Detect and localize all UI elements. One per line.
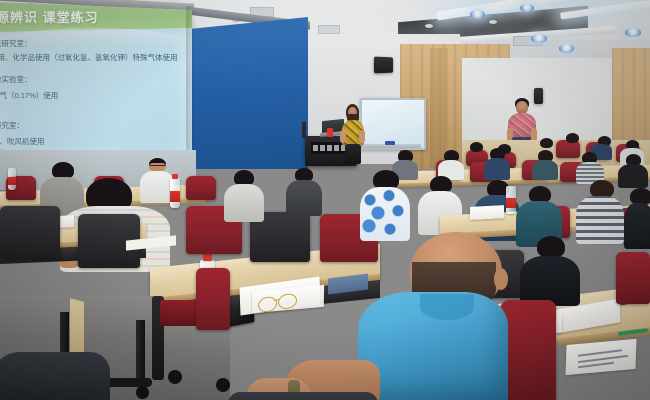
foreground-man-collar [420,294,474,320]
chair-back [196,268,230,330]
foreground-man [262,232,502,400]
presenter-arm-left [340,130,346,143]
ceiling-downlight [470,10,485,19]
audience-body-striped [576,196,624,244]
ceiling-vent [318,25,340,34]
bottle-cap [172,174,178,179]
audience-body [532,160,558,180]
audience-right-2 [576,180,624,242]
bottle-label [8,177,16,185]
microphone-stand [302,122,306,138]
audience-head [540,138,553,148]
audience-head [470,142,483,152]
classroom-photo-scene: 源辨识 课堂练习 光研究室： 使用、化学品使用（过氧化氢、氢氧化钾）特殊气体使用… [0,0,650,400]
audience-body [224,184,264,222]
water-bottle [170,178,180,208]
water-bottle [8,168,16,190]
audience-floral-blouse [360,170,410,240]
audience-head [537,236,565,258]
chair [556,140,580,158]
screen-shadow-edge [186,6,196,164]
caster-wheel [136,386,149,399]
papers [470,205,504,220]
foreground-man-ear [494,268,508,290]
projection-glare [0,2,192,162]
ceiling-downlight [531,34,547,43]
water-bottle [506,186,516,214]
audience-body [286,180,322,216]
chair [0,206,60,258]
ceiling-downlight [559,44,574,53]
ceiling-downlight [520,4,534,12]
presenter-arm-right [359,130,365,143]
sign-glyph [334,145,339,151]
audience-body [484,158,510,180]
audience-body [520,256,580,306]
presenter-skirt [345,144,361,164]
bottle-cap [203,254,212,261]
smoke-detector [425,24,433,28]
ceiling-downlight [625,28,641,37]
caster-wheel [216,378,230,392]
sign-glyph [313,145,318,151]
wood-wall-seam [430,48,448,168]
water-bottle [327,128,333,137]
audience-head [566,133,579,143]
sign-glyph [320,145,325,151]
presenter [340,104,366,162]
whiteboard-marker [385,141,395,145]
foreground-partial-person [0,352,110,400]
audience-center-1 [224,170,264,220]
eyeglasses-icon [150,165,165,169]
chair-foreground [500,300,556,400]
chair [186,176,216,200]
caster-wheel [168,370,182,384]
audience-right-foreground [520,236,580,302]
chair [616,252,650,304]
audience-center-2 [286,168,322,214]
smoke-detector [489,20,497,24]
audience-right-3 [624,188,650,246]
blue-wall-panel [188,17,308,169]
speaker-icon [374,57,393,74]
foreground-man-trousers [228,392,378,400]
sign-glyph [327,145,332,151]
audience-body [624,203,650,249]
bottle-label [170,191,180,202]
desk-leg [136,320,145,386]
bottle-label [506,198,516,208]
